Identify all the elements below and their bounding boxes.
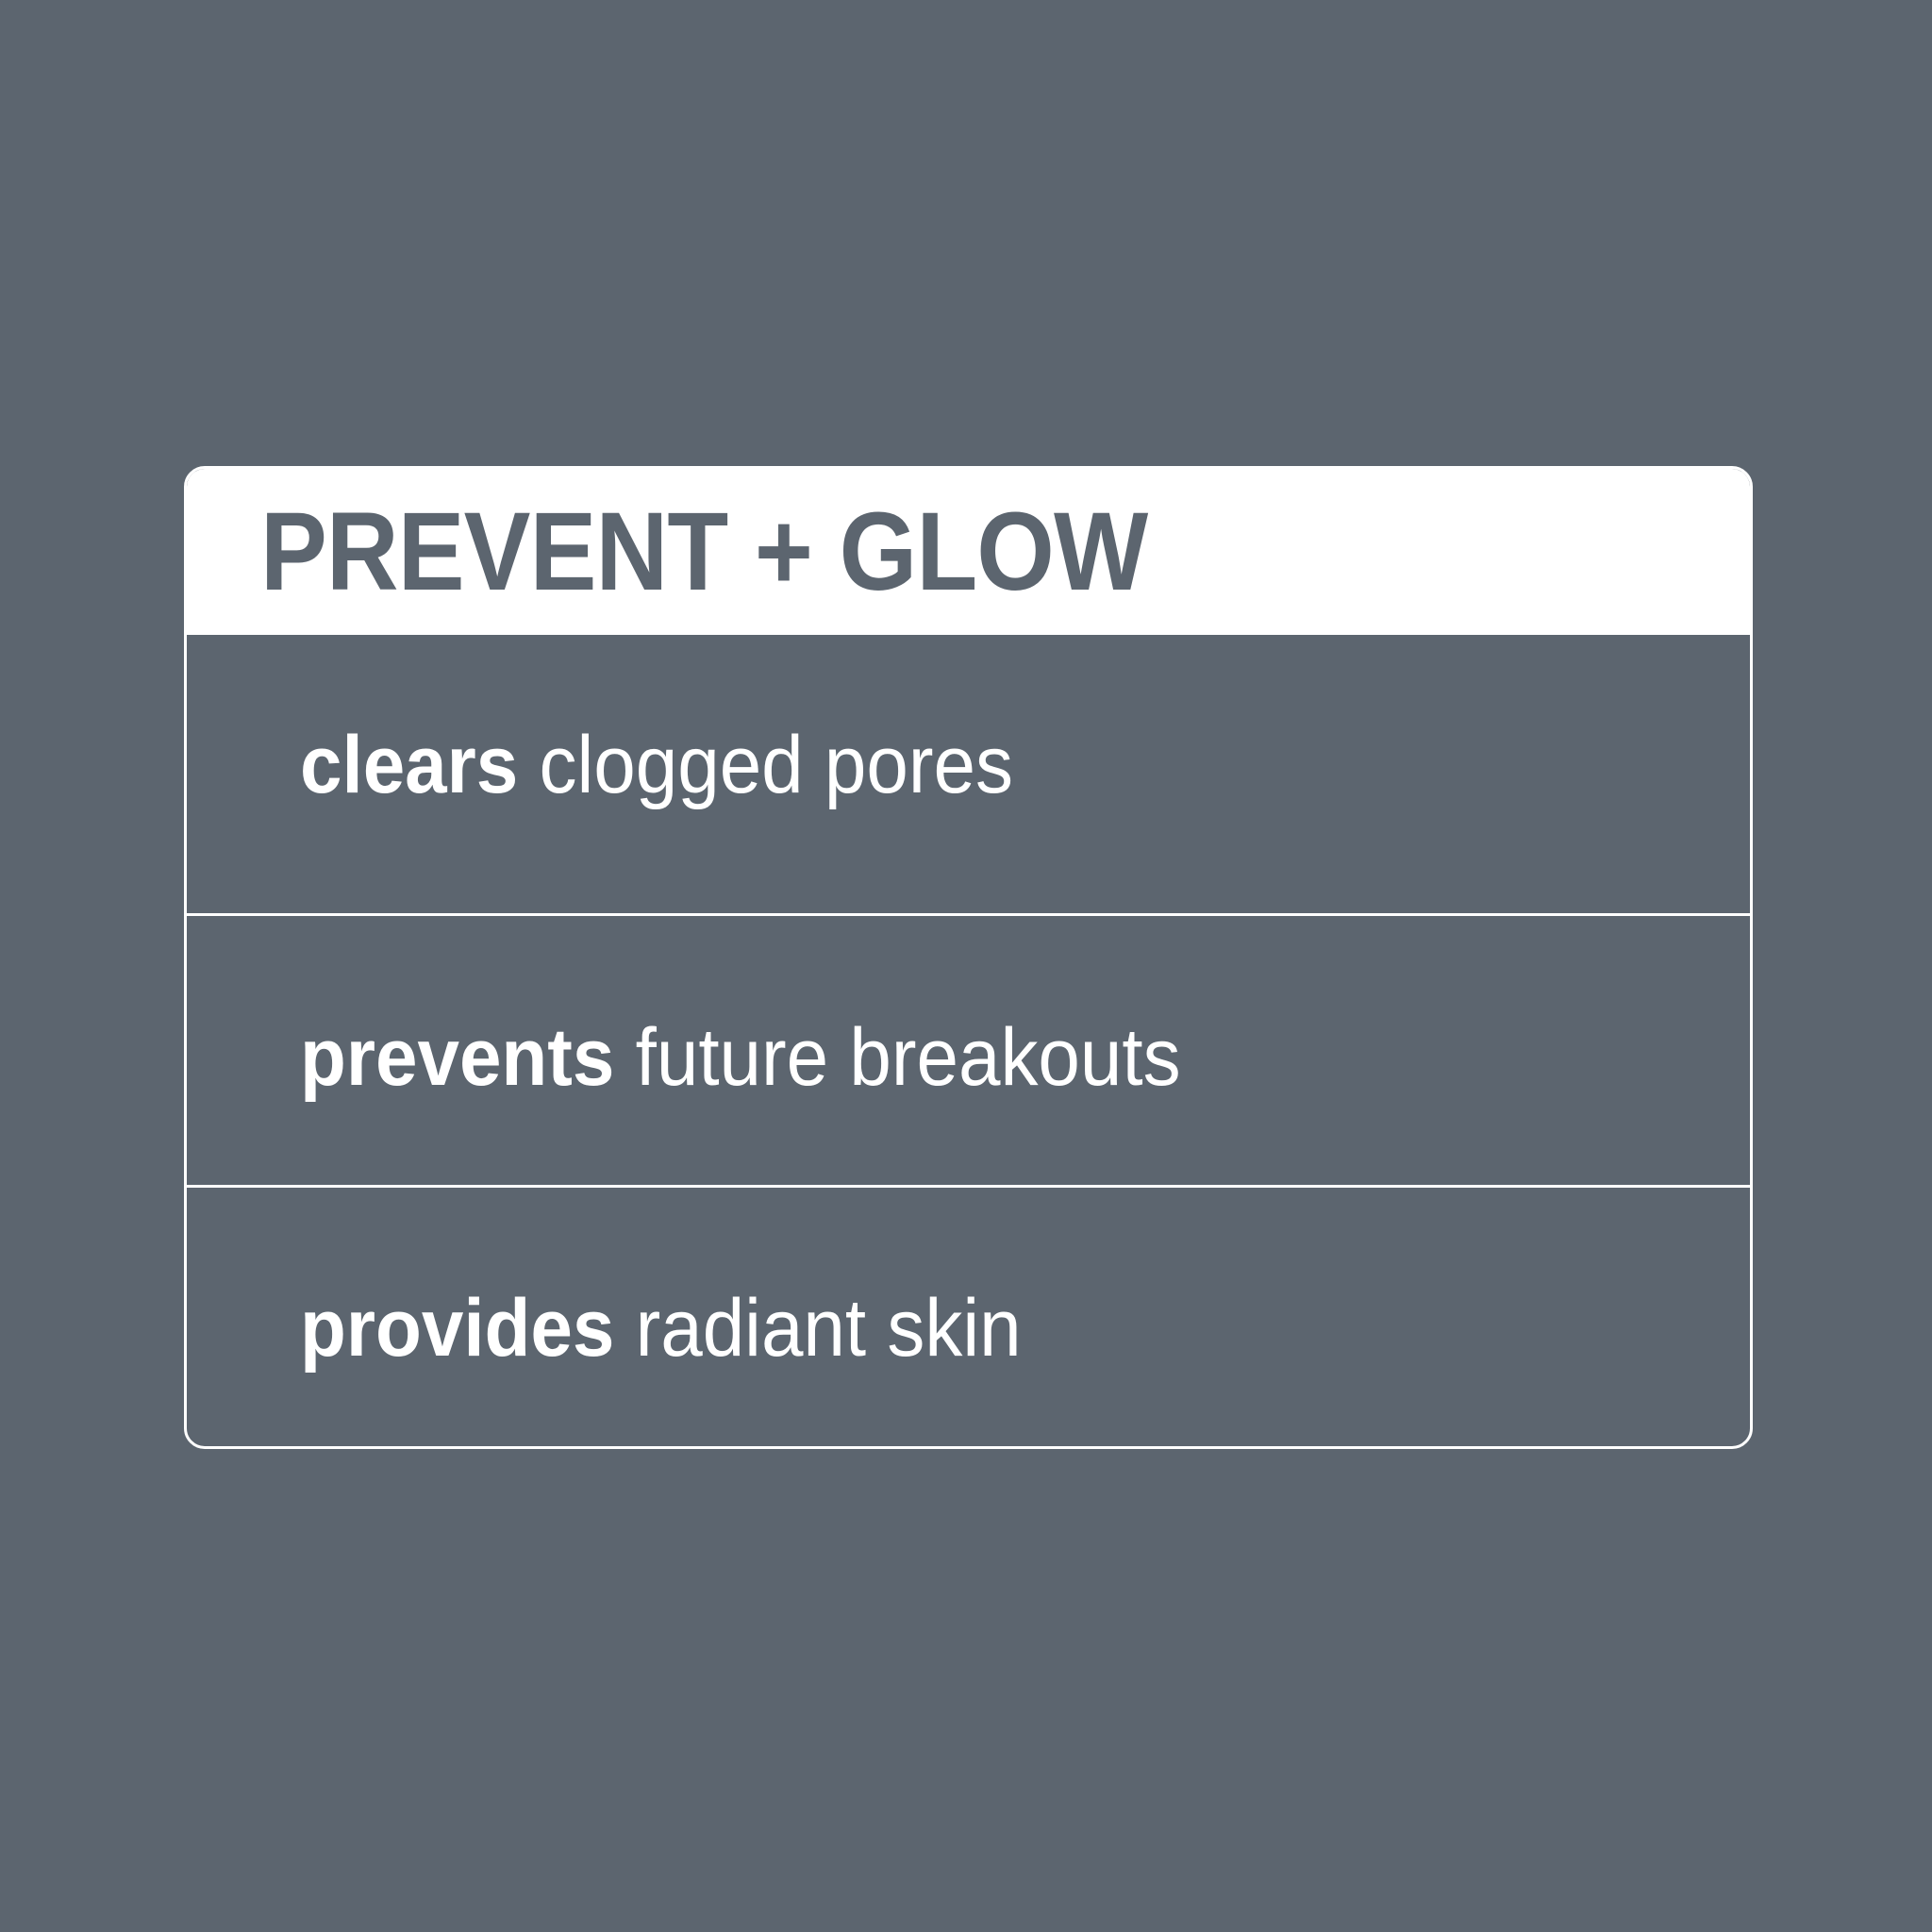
benefit-rest-text: clogged pores bbox=[518, 720, 1013, 810]
benefit-lead-word: prevents bbox=[300, 1012, 614, 1103]
benefit-text: prevents future breakouts bbox=[300, 1017, 1181, 1100]
benefits-list: clears clogged pores prevents future bre… bbox=[187, 635, 1750, 1446]
benefit-row: prevents future breakouts bbox=[187, 913, 1750, 1185]
benefit-rest-text: future breakouts bbox=[614, 1012, 1180, 1103]
product-benefits-graphic: PREVENT + GLOW clears clogged pores prev… bbox=[0, 0, 1932, 1932]
card-header: PREVENT + GLOW bbox=[187, 469, 1750, 635]
benefits-card: PREVENT + GLOW clears clogged pores prev… bbox=[184, 466, 1753, 1449]
benefit-lead-word: clears bbox=[300, 720, 518, 810]
benefit-text: clears clogged pores bbox=[300, 724, 1013, 808]
benefit-row: provides radiant skin bbox=[187, 1185, 1750, 1449]
card-title: PREVENT + GLOW bbox=[260, 496, 1147, 608]
benefit-lead-word: provides bbox=[300, 1283, 614, 1374]
benefit-rest-text: radiant skin bbox=[614, 1283, 1021, 1374]
benefit-row: clears clogged pores bbox=[187, 635, 1750, 913]
benefit-text: provides radiant skin bbox=[300, 1288, 1022, 1371]
